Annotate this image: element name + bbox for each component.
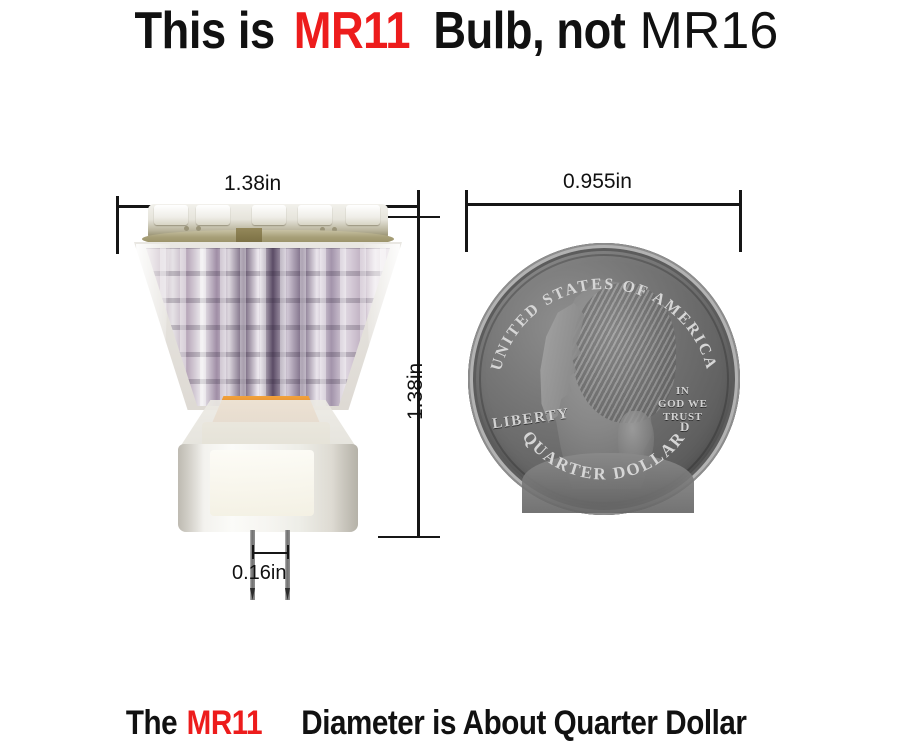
page-title: This is MR11 Bulb, not MR16 <box>0 2 902 60</box>
coin-mint-mark: D <box>680 419 689 435</box>
page-caption: The MR11 Diameter is About Quarter Dolla… <box>0 703 902 743</box>
caption-text-part2: Diameter is About Quarter Dollar <box>301 703 746 743</box>
led-chip <box>298 205 332 225</box>
coin-diameter-label: 0.955in <box>563 170 632 194</box>
coin-motto-line2: GOD WE <box>658 398 708 411</box>
led-chip <box>154 205 188 225</box>
quarter-dollar-coin-image: UNITED STATES OF AMERICA QUARTER DOLLAR … <box>468 243 740 515</box>
title-highlight-mr11: MR11 <box>294 2 410 60</box>
bulb-reflector-highlight-left <box>136 244 170 408</box>
caption-text-part1: The <box>126 703 177 743</box>
bulb-base-shading-right <box>332 444 358 532</box>
title-text-part1: This is <box>134 2 274 60</box>
bulb-reflector-highlight-right <box>364 244 400 408</box>
pin-spacing-label: 0.16in <box>232 562 287 585</box>
title-text-part2: Bulb, not <box>433 2 625 60</box>
pin-dim-line <box>252 552 289 554</box>
bulb-base-core <box>210 450 314 516</box>
caption-highlight-mr11: MR11 <box>187 703 263 743</box>
bulb-height-dim-tick-bottom <box>378 536 440 538</box>
coin-dim-line <box>465 203 741 206</box>
solder-dot <box>184 226 189 231</box>
title-text-mr16: MR16 <box>640 2 779 60</box>
led-chip <box>346 205 380 225</box>
mr11-bulb-image <box>118 204 418 534</box>
led-chip <box>252 205 286 225</box>
led-chip <box>196 205 230 225</box>
bulb-pin-tip <box>250 588 255 600</box>
bulb-pin-tip <box>285 588 290 600</box>
bulb-width-label: 1.38in <box>224 172 281 196</box>
coin-motto-line1: IN <box>658 385 708 398</box>
washington-shoulder <box>522 453 694 513</box>
bulb-base-shading-left <box>178 444 204 532</box>
